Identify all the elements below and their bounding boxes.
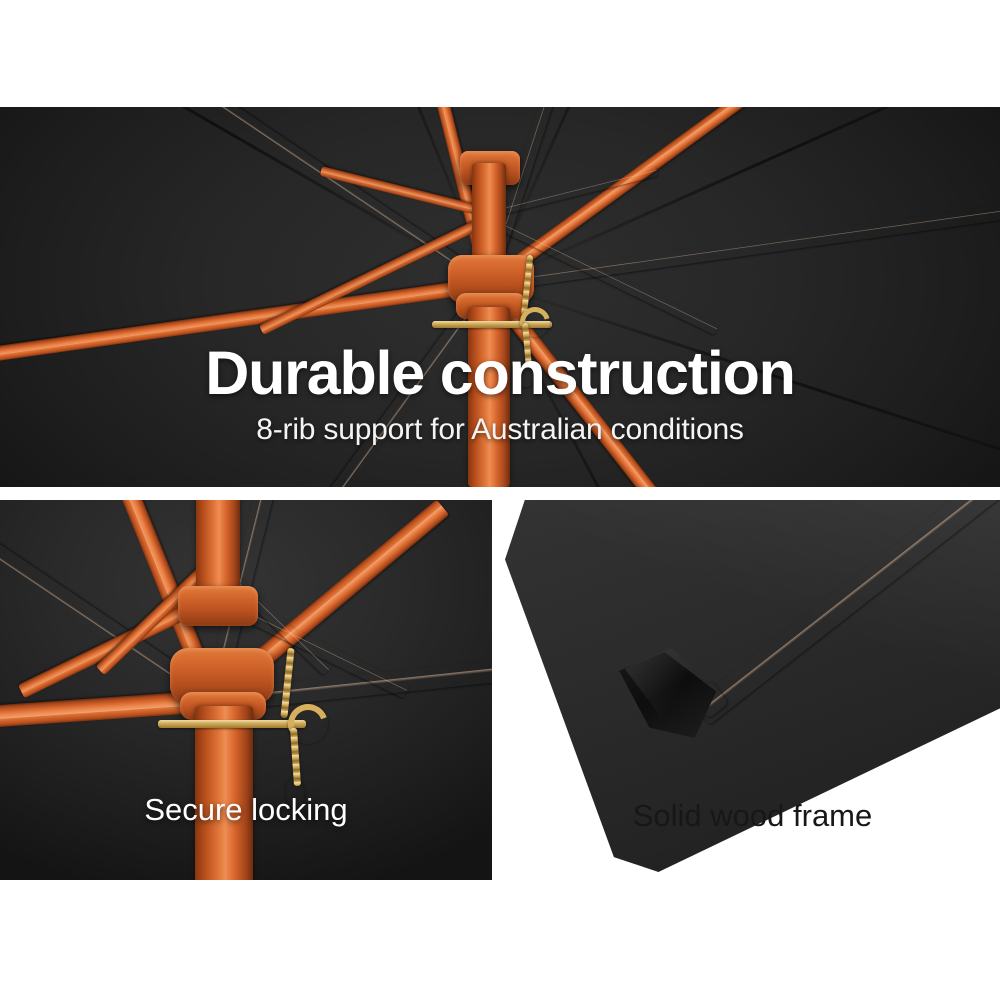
umbrella-upper-hub (178, 586, 258, 626)
umbrella-pole-lower (468, 307, 510, 487)
feature-panel-secure-locking: Secure locking (0, 500, 492, 880)
hero-panel-durable-construction: Durable construction 8-rib support for A… (0, 107, 1000, 487)
panel-caption-secure-locking: Secure locking (0, 792, 492, 828)
feature-panel-solid-wood-frame: Solid wood frame (505, 500, 1000, 872)
product-feature-image: Durable construction 8-rib support for A… (0, 0, 1000, 1000)
panel-caption-solid-wood-frame: Solid wood frame (505, 798, 1000, 834)
locking-tassel (518, 361, 534, 387)
locking-pin-crossbar (158, 720, 306, 728)
